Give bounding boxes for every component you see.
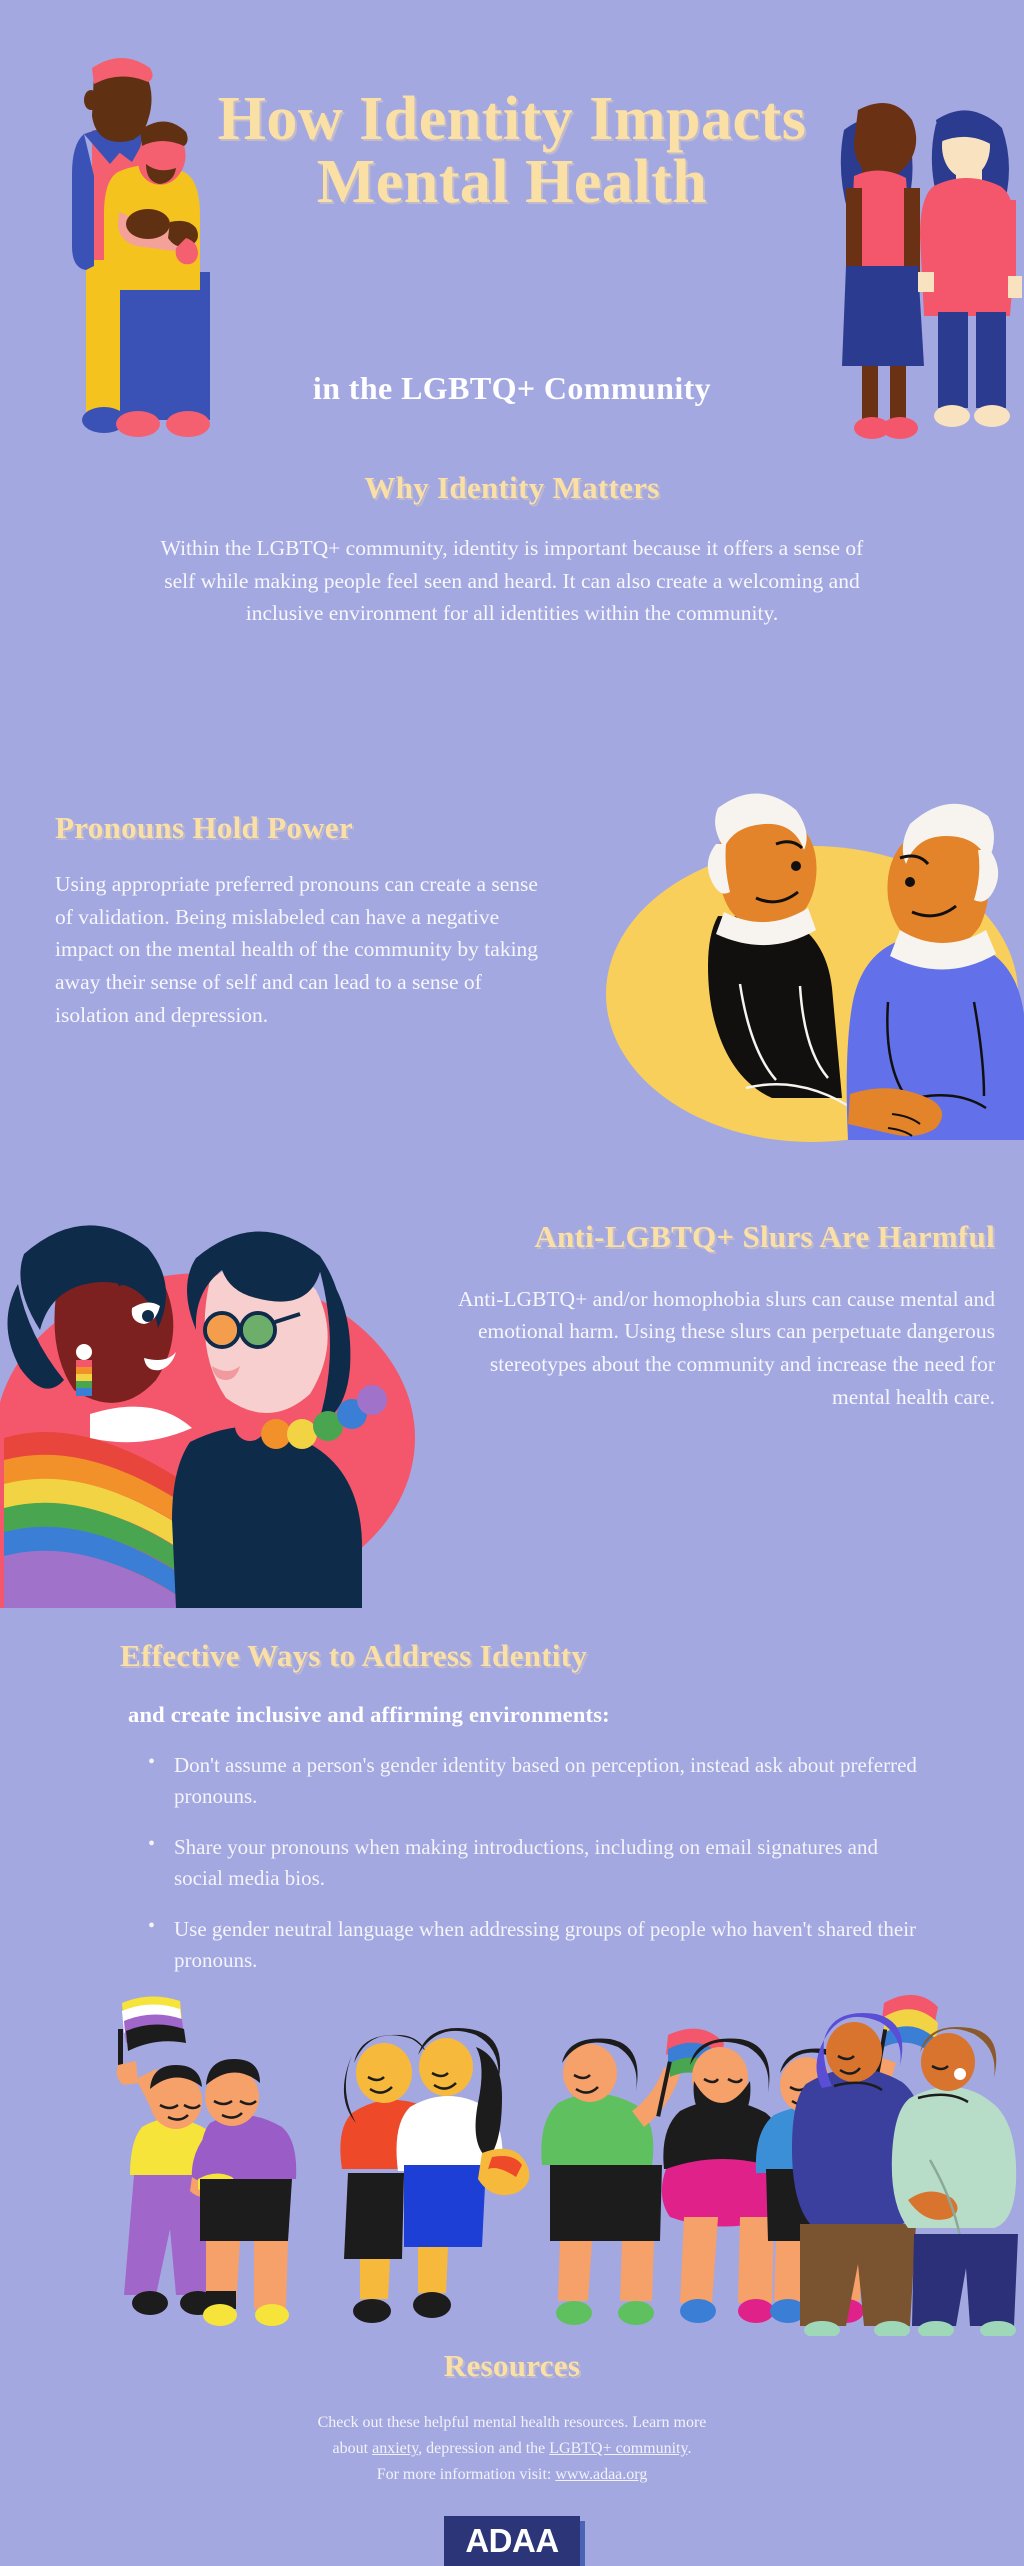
illustration-two-women-rainbow bbox=[0, 1208, 420, 1608]
section-why-identity-matters: Why Identity Matters Within the LGBTQ+ c… bbox=[0, 470, 1024, 630]
infographic-page: How Identity Impacts Mental Health in th… bbox=[0, 0, 1024, 2560]
illustration-elderly-couple bbox=[600, 784, 1024, 1160]
illustration-couple-embracing-right bbox=[790, 2000, 1024, 2336]
section-resources: Resources Check out these helpful mental… bbox=[0, 2348, 1024, 2566]
page-subtitle: in the LGBTQ+ Community bbox=[180, 370, 844, 407]
page-title: How Identity Impacts Mental Health bbox=[200, 88, 824, 214]
list-item: Don't assume a person's gender identity … bbox=[158, 1750, 920, 1812]
ways-list: Don't assume a person's gender identity … bbox=[120, 1750, 920, 1976]
section-pronouns-hold-power: Pronouns Hold Power Using appropriate pr… bbox=[55, 810, 575, 1031]
illustration-two-women-holding-hands bbox=[824, 80, 1024, 440]
resources-line-2-text-a: about bbox=[333, 2440, 373, 2457]
section-body-why: Within the LGBTQ+ community, identity is… bbox=[147, 532, 877, 630]
section-heading-slurs: Anti-LGBTQ+ Slurs Are Harmful bbox=[450, 1218, 995, 1257]
hero-section: How Identity Impacts Mental Health in th… bbox=[0, 0, 1024, 440]
resources-line-2-text-b: , depression and the bbox=[418, 2440, 549, 2457]
link-anxiety[interactable]: anxiety bbox=[372, 2440, 418, 2457]
resources-line-2-text-c: . bbox=[687, 2440, 691, 2457]
section-heading-why: Why Identity Matters bbox=[0, 470, 1024, 506]
resources-line-1: Check out these helpful mental health re… bbox=[0, 2410, 1024, 2436]
resources-line-3-text: For more information visit: bbox=[377, 2466, 556, 2483]
link-lgbtq-community[interactable]: LGBTQ+ community bbox=[549, 2440, 687, 2457]
section-heading-resources: Resources bbox=[444, 2348, 580, 2383]
section-heading-ways: Effective Ways to Address Identity bbox=[120, 1638, 920, 1674]
link-adaa-website[interactable]: www.adaa.org bbox=[555, 2466, 647, 2483]
adaa-logo: ADAA bbox=[444, 2516, 580, 2566]
list-item: Share your pronouns when making introduc… bbox=[158, 1832, 920, 1894]
resources-body: Check out these helpful mental health re… bbox=[0, 2410, 1024, 2488]
resources-line-3: For more information visit: www.adaa.org bbox=[0, 2462, 1024, 2488]
resources-line-2: about anxiety, depression and the LGBTQ+… bbox=[0, 2436, 1024, 2462]
section-subheading-ways: and create inclusive and affirming envir… bbox=[120, 1702, 920, 1728]
section-body-pronouns: Using appropriate preferred pronouns can… bbox=[55, 868, 560, 1031]
section-heading-pronouns: Pronouns Hold Power bbox=[55, 810, 575, 846]
section-body-slurs: Anti-LGBTQ+ and/or homophobia slurs can … bbox=[450, 1283, 995, 1414]
section-anti-lgbtq-slurs: Anti-LGBTQ+ Slurs Are Harmful Anti-LGBTQ… bbox=[450, 1218, 995, 1413]
list-item: Use gender neutral language when address… bbox=[158, 1914, 920, 1976]
adaa-logo-text: ADAA bbox=[465, 2522, 558, 2560]
section-effective-ways: Effective Ways to Address Identity and c… bbox=[120, 1638, 920, 1996]
